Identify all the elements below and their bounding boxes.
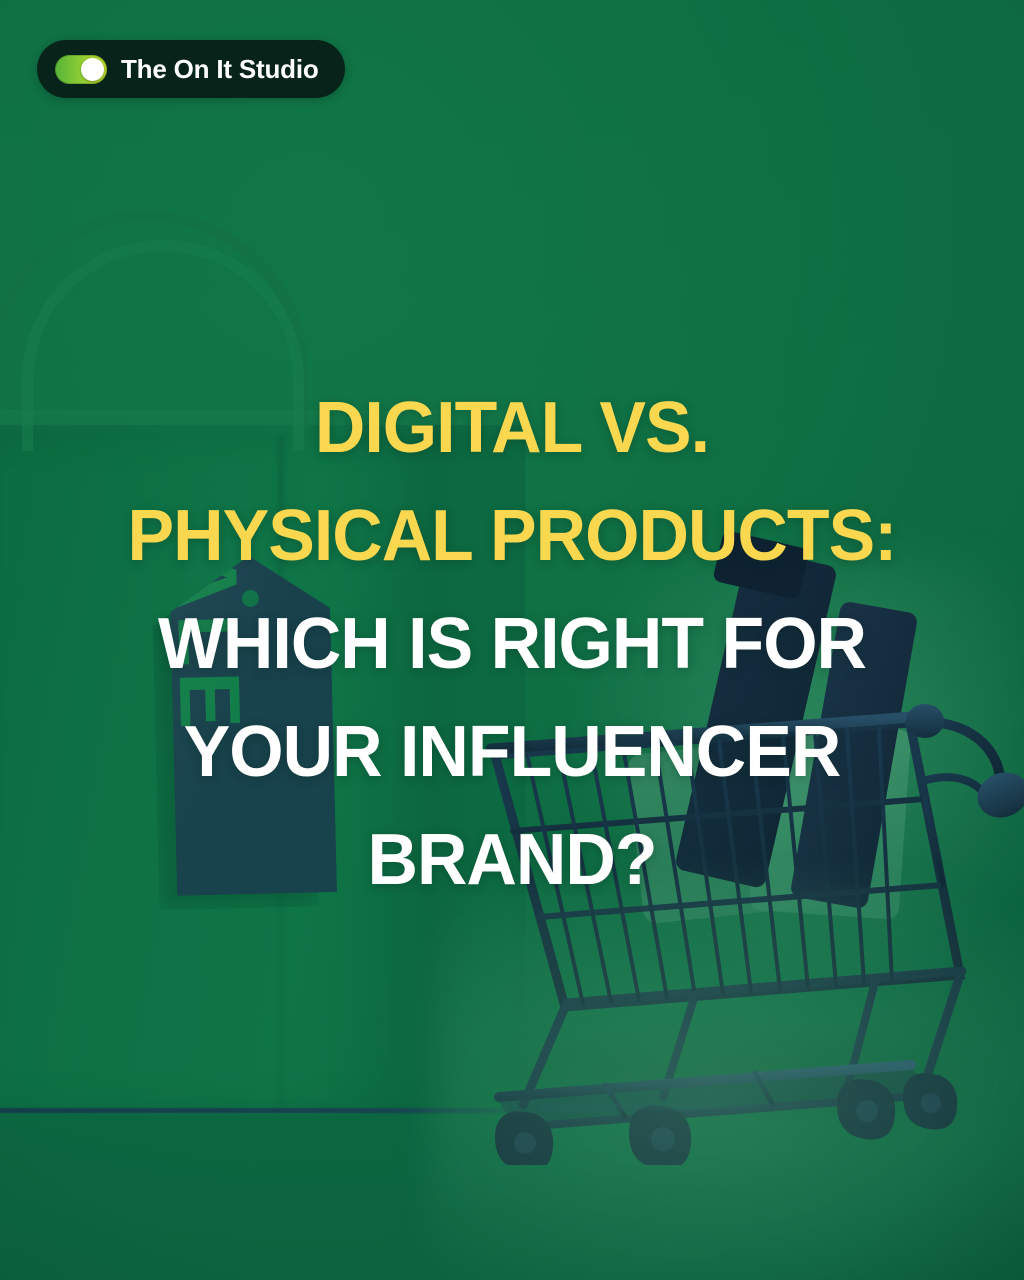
- headline-line-3: WHICH IS RIGHT FOR: [50, 590, 973, 698]
- headline-line-2: PHYSICAL PRODUCTS:: [50, 482, 973, 590]
- poster-canvas: SALE The On It Studio DIGITAL VS. PHYSIC…: [0, 0, 1024, 1280]
- headline-block: DIGITAL VS. PHYSICAL PRODUCTS: WHICH IS …: [0, 374, 1024, 914]
- toggle-knob: [81, 58, 104, 81]
- headline-line-5: BRAND?: [50, 806, 973, 914]
- toggle-switch-on-icon: [55, 55, 107, 84]
- headline-line-1: DIGITAL VS.: [50, 374, 973, 482]
- brand-name: The On It Studio: [121, 54, 319, 85]
- brand-logo-pill[interactable]: The On It Studio: [37, 40, 345, 98]
- headline-line-4: YOUR INFLUENCER: [50, 698, 973, 806]
